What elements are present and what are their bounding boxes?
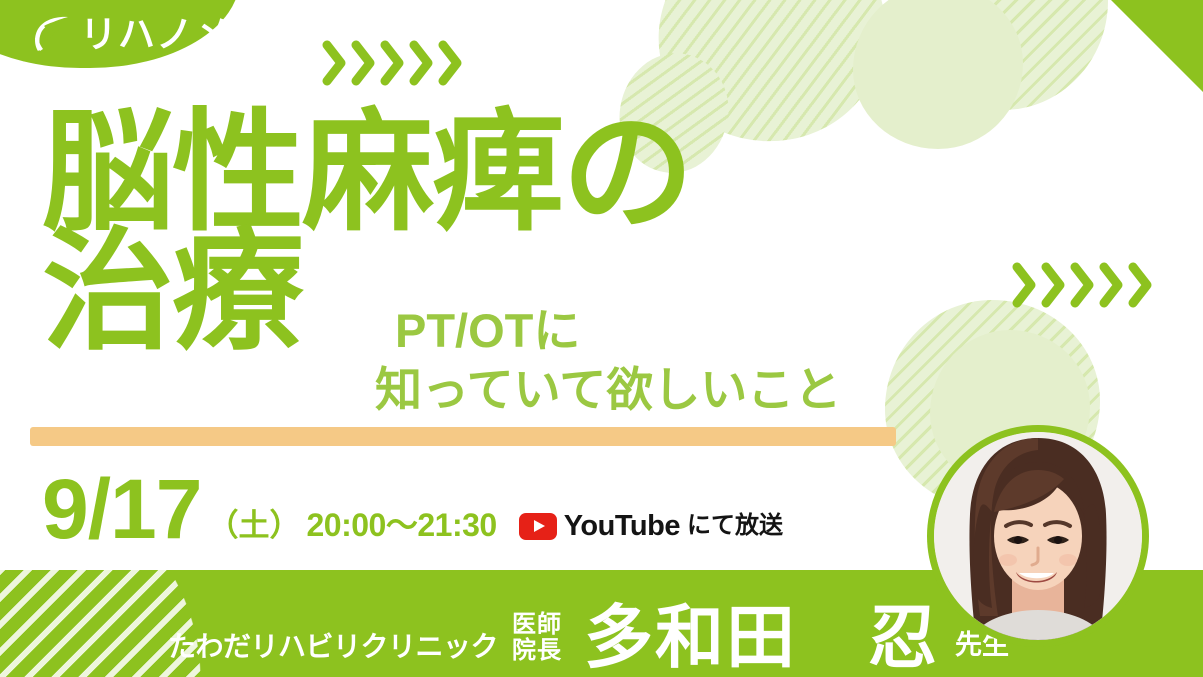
schedule-time: 20:00〜21:30 (307, 509, 497, 547)
schedule-weekday: （土） (208, 510, 301, 547)
page-subtitle-line-1: PT/OTに (395, 302, 841, 361)
title-underline-rule (30, 427, 896, 446)
chevron-right-icon (1128, 262, 1154, 308)
youtube-play-icon (519, 513, 557, 540)
speaker-photo (934, 432, 1142, 640)
chevron-right-icon (438, 40, 464, 86)
brand-logo-text: リハノメ (80, 16, 232, 53)
chevron-right-icon (1070, 262, 1096, 308)
chevron-right-icon (351, 40, 377, 86)
chevron-right-icon (409, 40, 435, 86)
schedule-date: 9/17 (42, 473, 202, 547)
broadcast-suffix-label: にて放送 (687, 514, 783, 538)
decorative-blob (853, 0, 1023, 149)
speaker-info: たわだリハビリクリニック 医師 院長 多和田 忍 先生 (168, 606, 1009, 669)
chevron-group-top (322, 40, 464, 86)
corner-triangle-decoration (1111, 0, 1203, 92)
speaker-name: 多和田 忍 (584, 606, 939, 669)
schedule-row: 9/17 （土） 20:00〜21:30 YouTube にて放送 (42, 473, 783, 547)
broadcast-platform-label: YouTube (564, 512, 680, 541)
speaker-role-line-2: 院長 (512, 638, 562, 664)
decorative-blob (898, 0, 1108, 110)
brand-logo-badge[interactable]: リハノメ (0, 0, 240, 68)
speaker-avatar (927, 425, 1149, 647)
speaker-clinic: たわだリハビリクリニック (168, 633, 498, 669)
speaker-role: 医師 院長 (512, 612, 562, 669)
page-subtitle: PT/OTに 知っていて欲しいこと (395, 302, 841, 420)
chevron-group-right (1012, 262, 1154, 308)
speaker-role-line-1: 医師 (512, 612, 562, 638)
brand-logo-inner: リハノメ (30, 14, 232, 54)
chevron-right-icon (380, 40, 406, 86)
chevron-right-icon (1041, 262, 1067, 308)
chevron-right-icon (1012, 262, 1038, 308)
leaf-icon (30, 14, 72, 54)
chevron-right-icon (1099, 262, 1125, 308)
page-subtitle-line-2: 知っていて欲しいこと (375, 361, 841, 420)
chevron-right-icon (322, 40, 348, 86)
seminar-poster: リハノメ 脳性麻痺の 治療 PT/OTに 知っていて欲しいこと 9/17 （土）… (0, 0, 1203, 677)
broadcast-badge[interactable]: YouTube にて放送 (519, 512, 783, 547)
